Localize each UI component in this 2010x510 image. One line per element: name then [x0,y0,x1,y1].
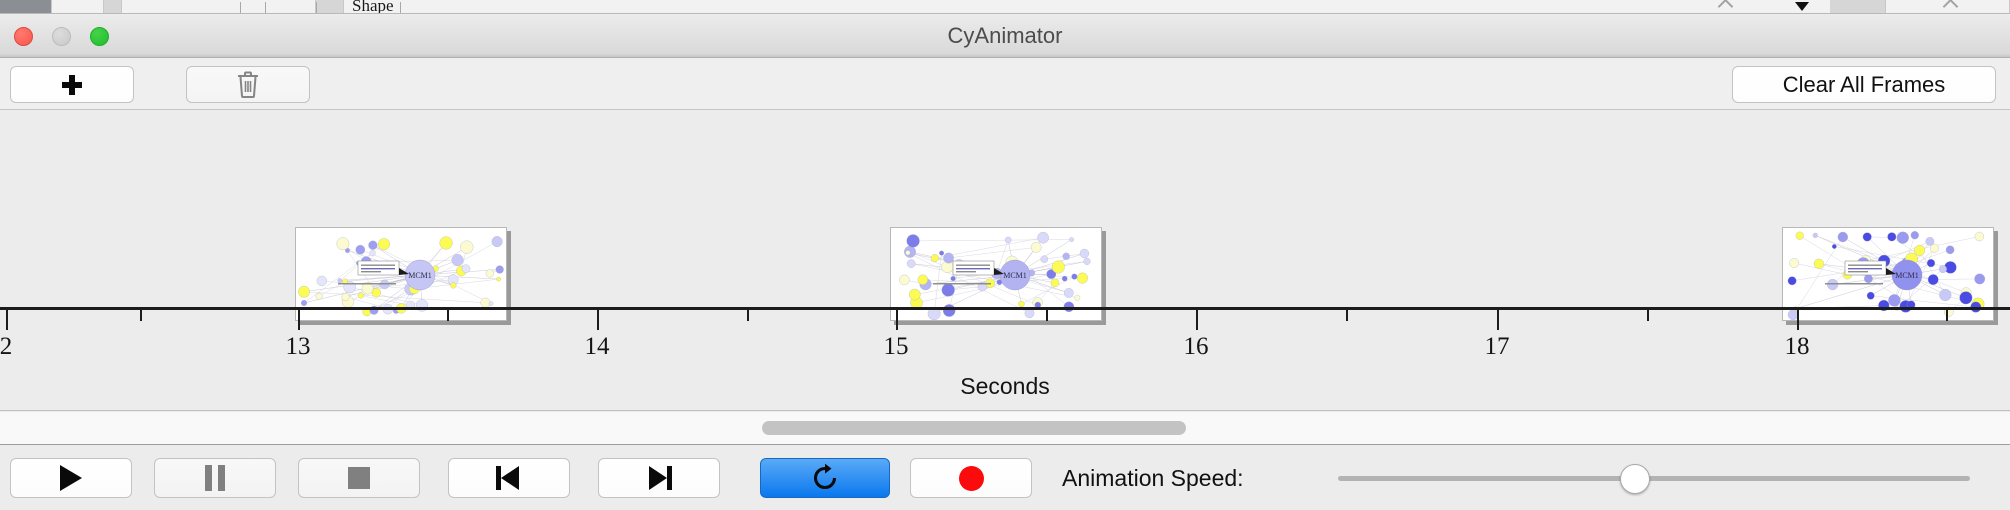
axis-tick-minor [1346,310,1348,321]
loop-button[interactable] [760,458,890,498]
axis-tick-label: 14 [585,333,610,361]
plus-icon [62,75,82,95]
skip-back-icon [496,466,522,490]
record-icon [959,466,984,491]
slider-thumb[interactable] [1620,464,1650,494]
stop-button[interactable] [298,458,420,498]
axis-tick-minor [747,310,749,321]
horizontal-scrollbar-track[interactable] [0,412,2010,445]
axis-tick-major [896,310,898,330]
skip-to-start-button[interactable] [448,458,570,498]
skip-forward-icon [646,466,672,490]
timeline-axis: 2131415161718 Seconds [0,307,2010,411]
axis-tick-major [6,310,8,330]
axis-tick-label: 13 [286,333,311,361]
axis-tick-label: 17 [1485,333,1510,361]
axis-tick-minor [1647,310,1649,321]
play-icon [60,465,82,491]
svg-text:MCM1: MCM1 [1895,271,1919,280]
axis-tick-label: 2 [0,333,12,361]
axis-tick-major [1797,310,1799,330]
axis-tick-label: 18 [1785,333,1810,361]
axis-tick-minor [1946,310,1948,321]
animation-speed-label: Animation Speed: [1062,458,1244,498]
background-window-strip: Shape [0,0,2010,14]
axis-tick-minor [1046,310,1048,321]
animation-speed-slider[interactable] [1338,458,1970,498]
horizontal-scrollbar-thumb[interactable] [762,421,1186,435]
add-frame-button[interactable] [10,66,134,103]
axis-tick-minor [447,310,449,321]
axis-title: Seconds [0,373,2010,400]
axis-line [0,307,2010,310]
stop-icon [348,467,370,489]
pause-icon [205,465,225,491]
record-button[interactable] [910,458,1032,498]
slider-track[interactable] [1338,476,1970,481]
play-button[interactable] [10,458,132,498]
skip-to-end-button[interactable] [598,458,720,498]
toolbar: Clear All Frames [0,58,2010,110]
svg-text:MCM1: MCM1 [408,271,432,280]
clear-all-frames-button[interactable]: Clear All Frames [1732,66,1996,103]
pause-button[interactable] [154,458,276,498]
axis-tick-major [597,310,599,330]
axis-tick-minor [140,310,142,321]
axis-tick-major [1497,310,1499,330]
background-window-label: Shape [352,0,394,14]
axis-tick-major [1196,310,1198,330]
loop-icon [810,463,840,493]
svg-text:MCM1: MCM1 [1003,271,1027,280]
cyanimator-window: Shape CyAnimator Clear All Frames [0,0,2010,510]
timeline-panel[interactable]: MCM1MCM1MCM1 2131415161718 Seconds [0,111,2010,411]
trash-icon [236,71,260,98]
axis-tick-label: 16 [1184,333,1209,361]
window-title: CyAnimator [0,14,2010,58]
delete-frame-button[interactable] [186,66,310,103]
axis-tick-label: 15 [884,333,909,361]
background-toolbar: Shape [0,0,2010,14]
axis-tick-major [298,310,300,330]
titlebar: CyAnimator [0,14,2010,58]
playback-control-bar: Animation Speed: [0,446,2010,510]
